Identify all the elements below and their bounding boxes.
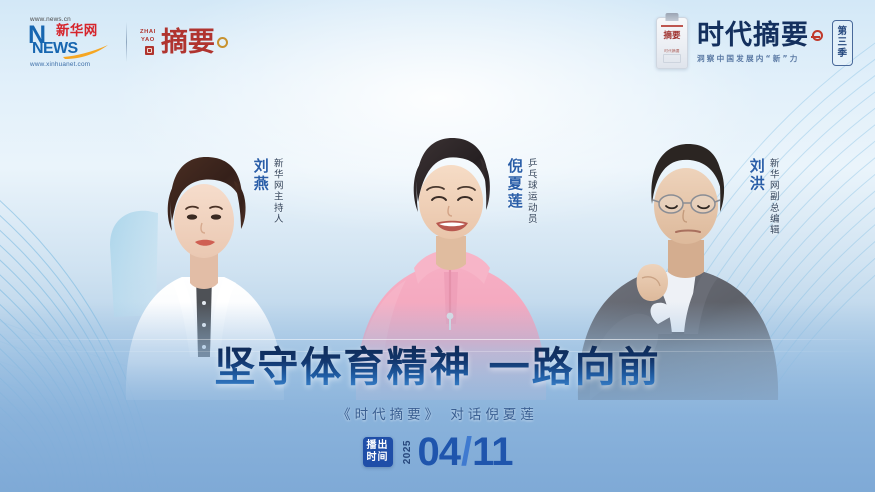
desk-edge-line bbox=[0, 339, 875, 340]
guest-nametag-3: 刘洪 新华网副总编辑 bbox=[748, 158, 778, 236]
zhaiyao-word: 摘要 bbox=[161, 29, 215, 56]
poster-canvas: www.news.cn N 新华网 NEWS www.xinhuanet.com… bbox=[0, 0, 875, 492]
zhaiyao-pinyin-1: ZHAI bbox=[140, 29, 156, 36]
guest-name-1: 刘燕 bbox=[252, 158, 269, 193]
xinhua-logo[interactable]: www.news.cn N 新华网 NEWS www.xinhuanet.com… bbox=[28, 16, 228, 68]
program-text: 时代摘要 洞察中国发展内“新”力 bbox=[697, 22, 823, 64]
broadcast-date: 04/11 bbox=[418, 432, 513, 472]
bottle-band bbox=[661, 25, 683, 27]
program-title: 时代摘要 bbox=[697, 22, 809, 49]
bottle-label: 摘要 bbox=[657, 32, 687, 41]
program-logo[interactable]: 摘要 时代摘要 时代摘要 洞察中国发展内“新”力 第三季 bbox=[656, 14, 853, 72]
broadcast-badge-line2: 时间 bbox=[367, 452, 389, 464]
guest-role-2: 乒乓球运动员 bbox=[525, 158, 536, 225]
xinhua-name-cn: 新华网 bbox=[56, 24, 98, 39]
broadcast-info: 播出 时间 2025 04/11 bbox=[0, 432, 875, 472]
guest-name-2: 倪夏莲 bbox=[506, 158, 523, 211]
page-subtitle: 《时代摘要》 对话倪夏莲 bbox=[0, 403, 875, 423]
broadcast-day: 11 bbox=[472, 430, 512, 474]
guest-name-3: 刘洪 bbox=[748, 158, 765, 193]
zhaiyao-pinyin-2: YAO bbox=[141, 37, 155, 44]
guest-role-3: 新华网副总编辑 bbox=[767, 158, 778, 236]
broadcast-year: 2025 bbox=[402, 440, 413, 464]
page-title: 坚守体育精神 一路向前 bbox=[0, 345, 875, 389]
seal-icon bbox=[145, 46, 154, 55]
bottle-cap-icon bbox=[666, 13, 679, 21]
broadcast-month: 04 bbox=[418, 430, 461, 474]
ring-dot-icon bbox=[812, 30, 823, 41]
guest-nametag-2: 倪夏莲 乒乓球运动员 bbox=[506, 158, 536, 225]
bottle-foot bbox=[663, 54, 681, 63]
program-subtitle: 洞察中国发展内“新”力 bbox=[697, 53, 823, 64]
logo-divider bbox=[126, 22, 127, 62]
guest-role-1: 新华网主持人 bbox=[271, 158, 282, 225]
guest-nametag-1: 刘燕 新华网主持人 bbox=[252, 158, 282, 225]
xinhua-url-bottom: www.xinhuanet.com bbox=[30, 61, 90, 68]
xinhua-swoosh-icon bbox=[62, 44, 110, 60]
circle-dot-icon bbox=[217, 37, 228, 48]
broadcast-badge: 播出 时间 bbox=[363, 437, 393, 467]
season-badge: 第三季 bbox=[832, 20, 853, 67]
xinhua-mark: www.news.cn N 新华网 NEWS www.xinhuanet.com bbox=[28, 16, 112, 68]
broadcast-badge-line1: 播出 bbox=[367, 440, 389, 452]
date-separator: / bbox=[461, 430, 471, 474]
bottle-icon: 摘要 时代摘要 bbox=[656, 17, 688, 69]
